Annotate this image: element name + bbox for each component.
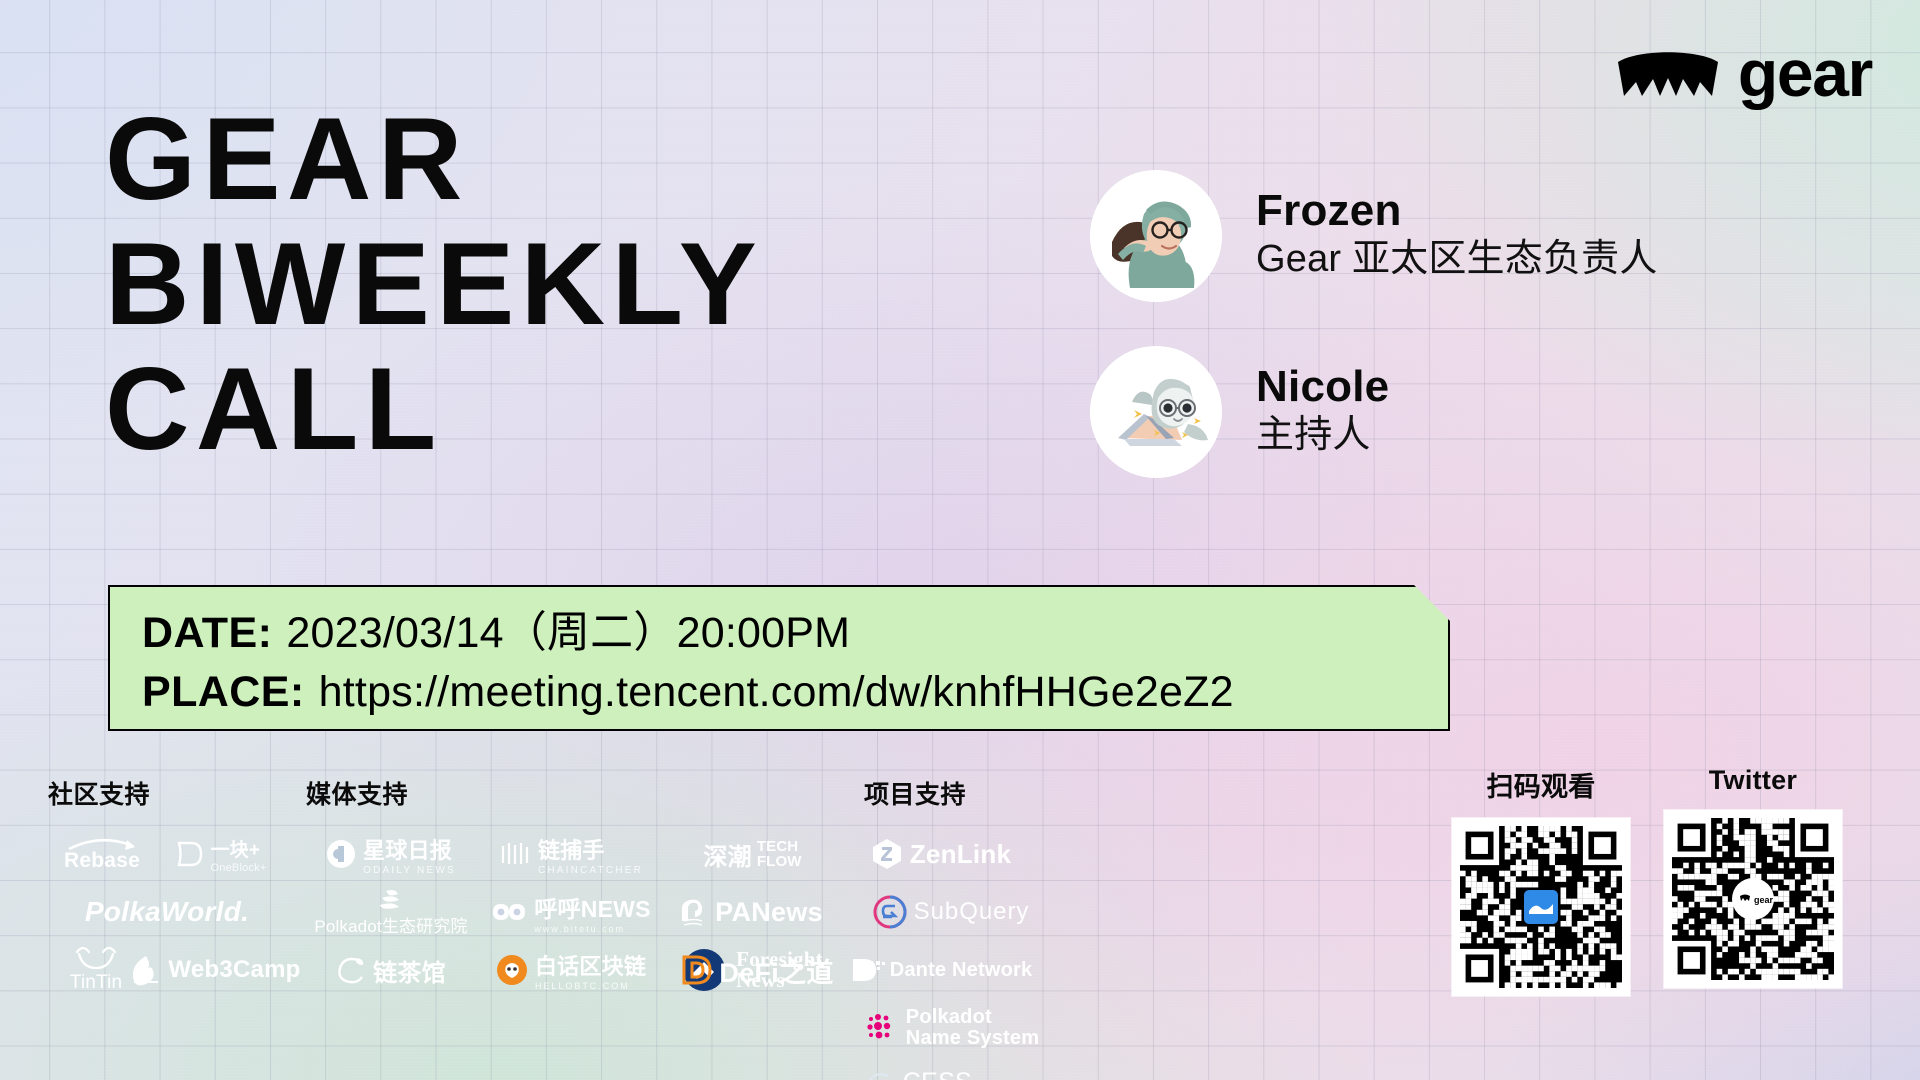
qr-twitter-label: Twitter (1664, 765, 1842, 796)
logo-subtext: ODAILY NEWS (363, 865, 456, 876)
logo-text: PolkaWorld. (85, 896, 249, 928)
svg-text:gear: gear (1754, 895, 1774, 905)
qr-twitter[interactable]: Twitter gear (1664, 765, 1842, 996)
logo-subquery[interactable]: SubQuery (856, 883, 1046, 941)
speakers-list: Frozen Gear 亚太区生态负责人 (1090, 170, 1658, 478)
media-logo-grid: 星球日报 ODAILY NEWS 链捕手 CHAINCATCHER 深潮 (300, 825, 845, 999)
speaker-info: Nicole 主持人 (1256, 362, 1389, 463)
logo-text: 链茶馆 (373, 953, 446, 988)
qr-twitter-frame[interactable]: gear (1664, 810, 1842, 988)
logo-dante-network[interactable]: Dante Network (856, 941, 1026, 999)
speaker-card: Frozen Gear 亚太区生态负责人 (1090, 170, 1658, 302)
date-label: DATE: (142, 604, 272, 663)
logo-text: TinTin (70, 972, 123, 994)
avatar-person-hoodie-icon (1090, 170, 1222, 302)
speaker-role: Gear 亚太区生态负责人 (1256, 237, 1658, 283)
qr-twitter-canvas[interactable]: gear (1672, 818, 1834, 980)
project-support-column: 项目支持 ZenLink SubQuery Dante Network (856, 775, 1186, 1080)
community-logo-grid: Rebase 一块+ OneBlock+ PolkaWorld. Tin (48, 825, 288, 999)
logo-chachaguan[interactable]: 链茶馆 (300, 941, 482, 999)
logo-defi-zhidao[interactable]: DeFi之道 (667, 941, 845, 999)
logo-techflow[interactable]: 深潮 TECH FLOW (660, 825, 845, 883)
logo-web3camp[interactable]: Web3Camp (144, 941, 288, 999)
logo-text: 白话区块链 (535, 949, 646, 981)
headline-line-2: BIWEEKLY (105, 221, 763, 346)
logo-text: ZenLink (910, 839, 1012, 870)
event-info-box: DATE: 2023/03/14（周二）20:00PM PLACE: https… (108, 585, 1450, 731)
logo-text: 深潮 (703, 837, 751, 872)
logo-subtext: OneBlock+ (210, 862, 266, 874)
speaker-info: Frozen Gear 亚太区生态负责人 (1256, 186, 1658, 287)
qr-watch-frame[interactable] (1452, 818, 1630, 996)
avatar-cat-laptop-icon (1090, 346, 1222, 478)
logo-text: Polkadot Name System (906, 1007, 1039, 1049)
gear-crown-icon (1616, 46, 1720, 100)
logo-text: PANews (715, 897, 823, 928)
community-support-title: 社区支持 (48, 775, 288, 811)
logo-text: Web3Camp (168, 956, 300, 984)
logo-text: 星球日报 (363, 833, 452, 865)
headline-line-1: GEAR (105, 96, 763, 221)
page-title: GEAR BIWEEKLY CALL (105, 96, 763, 472)
logo-subtext: HELLOBTC.COM (535, 981, 630, 991)
qr-codes-section: 扫码观看 Twitter gear (1452, 765, 1872, 996)
logo-text: Dante Network (890, 959, 1033, 982)
project-logo-grid: ZenLink SubQuery Dante Network Polkadot … (856, 825, 1186, 1080)
logo-rebase[interactable]: Rebase (48, 825, 156, 883)
place-label: PLACE: (142, 663, 305, 722)
speaker-name: Frozen (1256, 186, 1658, 235)
logo-text: Polkadot生态研究院 (314, 912, 467, 937)
logo-text: 链捕手 (538, 833, 605, 865)
logo-panews[interactable]: PANews (660, 883, 845, 941)
logo-huhunews[interactable]: 呼呼NEWS www.bitetu.com (482, 883, 660, 941)
date-value: 2023/03/14（周二）20:00PM (286, 604, 850, 663)
logo-subtext: www.bitetu.com (534, 924, 625, 934)
logo-odaily[interactable]: 星球日报 ODAILY NEWS (300, 825, 482, 883)
logo-polkadot-research[interactable]: Polkadot生态研究院 (300, 883, 482, 941)
media-support-column: 媒体支持 星球日报 ODAILY NEWS 链捕手 CHAINCATCH (300, 775, 845, 999)
partners-section: 社区支持 Rebase 一块+ OneBlock+ PolkaWorld. (0, 775, 1920, 1080)
qr-watch[interactable]: 扫码观看 (1452, 765, 1630, 996)
speaker-role: 主持人 (1256, 413, 1389, 459)
project-support-title: 项目支持 (864, 775, 1186, 811)
place-value[interactable]: https://meeting.tencent.com/dw/knhfHHGe2… (319, 663, 1234, 722)
speaker-card: Nicole 主持人 (1090, 346, 1658, 478)
logo-oneblock[interactable]: 一块+ OneBlock+ (156, 825, 286, 883)
logo-text: Rebase (64, 849, 140, 873)
logo-zenlink[interactable]: ZenLink (856, 825, 1026, 883)
qr-watch-canvas[interactable] (1460, 826, 1622, 988)
headline-line-3: CALL (105, 346, 763, 471)
logo-text: 呼呼NEWS (534, 890, 650, 924)
logo-subtext: CHAINCATCHER (538, 865, 643, 876)
gear-app-blue-icon (1524, 890, 1558, 924)
community-support-column: 社区支持 Rebase 一块+ OneBlock+ PolkaWorld. (48, 775, 288, 999)
event-place-row: PLACE: https://meeting.tencent.com/dw/kn… (142, 663, 1448, 722)
qr-watch-label: 扫码观看 (1452, 765, 1630, 804)
logo-chaincatcher[interactable]: 链捕手 CHAINCATCHER (482, 825, 660, 883)
event-date-row: DATE: 2023/03/14（周二）20:00PM (142, 604, 1448, 663)
logo-polkaworld[interactable]: PolkaWorld. (48, 883, 286, 941)
logo-cess[interactable]: CESS Cumulus Encrypted Storage System (856, 1057, 1026, 1080)
logo-subtext: TECH FLOW (757, 839, 802, 870)
brand-wordmark: gear (1738, 40, 1872, 106)
speaker-name: Nicole (1256, 362, 1389, 411)
gear-round-white-icon: gear (1732, 878, 1774, 920)
logo-text: CESS (903, 1068, 972, 1080)
logo-hellobtc[interactable]: 白话区块链 HELLOBTC.COM (482, 941, 660, 999)
logo-tintin[interactable]: TinTin (48, 941, 144, 999)
logo-text: SubQuery (914, 898, 1030, 926)
media-support-title: 媒体支持 (306, 775, 845, 811)
logo-text: 一块+ (210, 835, 260, 862)
logo-polkadot-name-system[interactable]: Polkadot Name System (856, 999, 1046, 1057)
brand-logo: gear (1616, 40, 1872, 106)
logo-text: DeFi之道 (719, 951, 833, 990)
